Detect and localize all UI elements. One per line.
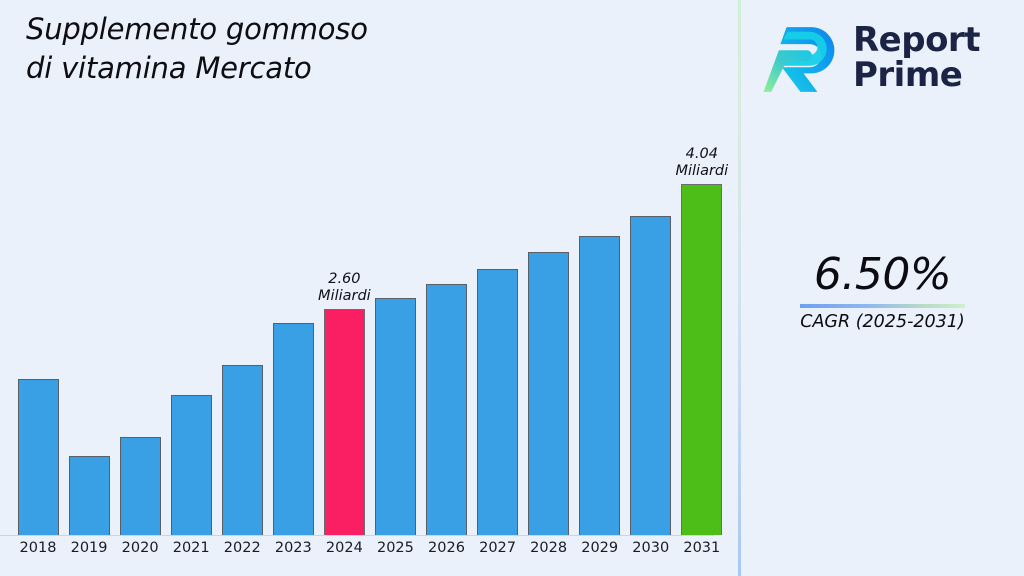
bar-slot-2025	[371, 120, 419, 535]
report-prime-r-logo-icon	[763, 21, 841, 95]
bar-value-label-2031: 4.04 Miliardi	[675, 146, 728, 180]
bar-slot-2022	[218, 120, 266, 535]
bar-slot-2023	[269, 120, 317, 535]
bar-2024[interactable]	[324, 309, 365, 535]
bar-2020[interactable]	[120, 437, 161, 535]
bar-slot-2031: 4.04 Miliardi	[678, 120, 726, 535]
bar-slot-2020	[116, 120, 164, 535]
bar-slot-2021	[167, 120, 215, 535]
bar-slot-2030	[627, 120, 675, 535]
x-tick-2020: 2020	[116, 540, 164, 556]
x-tick-2030: 2030	[627, 540, 675, 556]
cagr-divider-rule	[800, 304, 965, 308]
x-tick-2019: 2019	[65, 540, 113, 556]
bar-2023[interactable]	[273, 323, 314, 535]
x-tick-2022: 2022	[218, 540, 266, 556]
brand-panel: Report Prime 6.50% CAGR (2025-2031)	[741, 0, 1024, 576]
x-axis-line	[0, 535, 714, 536]
cagr-block: 6.50% CAGR (2025-2031)	[741, 252, 1024, 332]
bar-slot-2028	[525, 120, 573, 535]
x-tick-2027: 2027	[474, 540, 522, 556]
bar-slot-2029	[576, 120, 624, 535]
cagr-value: 6.50%	[741, 252, 1024, 298]
bar-2018[interactable]	[18, 379, 59, 535]
bar-slot-2018	[14, 120, 62, 535]
bar-2026[interactable]	[426, 284, 467, 535]
x-tick-2024: 2024	[320, 540, 368, 556]
page-title: Supplemento gommoso di vitamina Mercato	[26, 10, 456, 87]
bar-chart-plot-area: 2.60 Miliardi4.04 Miliardi	[14, 120, 726, 535]
bar-series: 2.60 Miliardi4.04 Miliardi	[14, 120, 726, 535]
report-prime-logo: Report Prime	[763, 12, 1013, 104]
brand-name: Report Prime	[853, 23, 980, 94]
x-tick-2025: 2025	[371, 540, 419, 556]
bar-2021[interactable]	[171, 395, 212, 535]
bar-slot-2019	[65, 120, 113, 535]
bar-slot-2024: 2.60 Miliardi	[320, 120, 368, 535]
x-tick-2018: 2018	[14, 540, 62, 556]
x-tick-2031: 2031	[678, 540, 726, 556]
x-tick-2023: 2023	[269, 540, 317, 556]
x-axis-tick-labels: 2018201920202021202220232024202520262027…	[14, 540, 726, 556]
bar-2027[interactable]	[477, 269, 518, 535]
x-tick-2026: 2026	[423, 540, 471, 556]
x-tick-2028: 2028	[525, 540, 573, 556]
bar-2028[interactable]	[528, 252, 569, 535]
bar-2029[interactable]	[579, 236, 620, 535]
bar-2019[interactable]	[69, 456, 110, 535]
x-tick-2021: 2021	[167, 540, 215, 556]
chart-page: Supplemento gommoso di vitamina Mercato …	[0, 0, 1024, 576]
bar-2031[interactable]	[681, 184, 722, 535]
bar-2022[interactable]	[222, 365, 263, 535]
x-tick-2029: 2029	[576, 540, 624, 556]
cagr-caption: CAGR (2025-2031)	[741, 312, 1024, 332]
bar-2025[interactable]	[375, 298, 416, 535]
bar-slot-2027	[474, 120, 522, 535]
bar-2030[interactable]	[630, 216, 671, 535]
bar-slot-2026	[423, 120, 471, 535]
chart-panel: Supplemento gommoso di vitamina Mercato …	[0, 0, 738, 576]
bar-value-label-2024: 2.60 Miliardi	[318, 271, 371, 305]
